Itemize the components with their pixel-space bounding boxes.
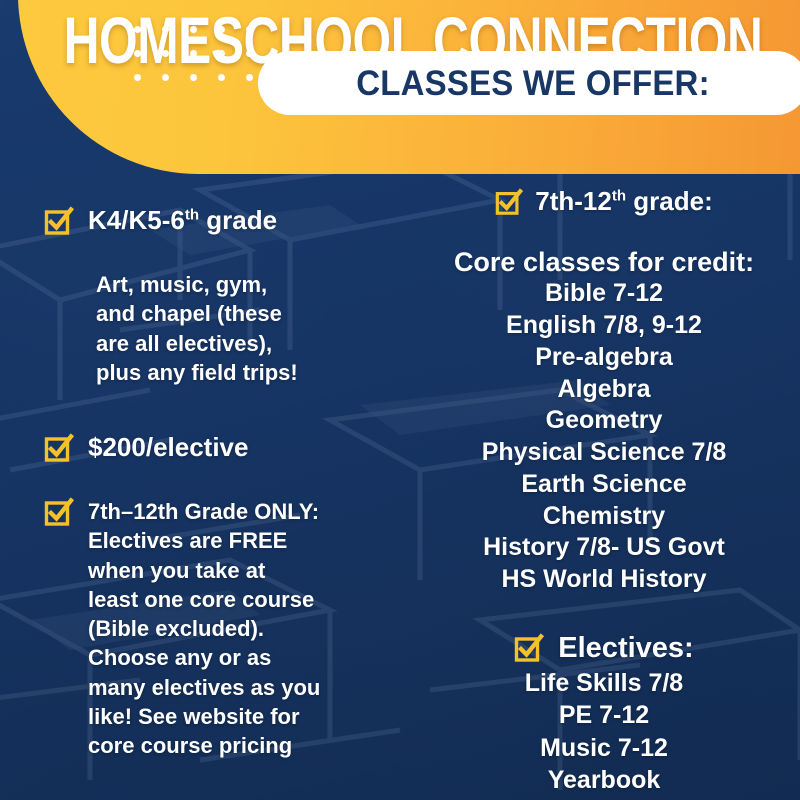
right-column: 7th-12th grade: Core classes for credit:… (408, 186, 800, 800)
list-item: Chemistry (408, 501, 800, 533)
k4-detail-text: Art, music, gym, and chapel (these are a… (96, 270, 394, 387)
left-item-electives-free: 7th–12th Grade ONLY: Electives are FREE … (44, 497, 394, 760)
list-item: Algebra (408, 374, 800, 406)
list-item: Bible 7-12 (408, 278, 800, 310)
electives-heading-row: Electives: (408, 632, 800, 665)
left-item-k4-k5-label: K4/K5-6th grade (88, 206, 277, 235)
left-item-electives-free-text: 7th–12th Grade ONLY: Electives are FREE … (88, 497, 320, 760)
list-item: Physical Science 7/8 (408, 437, 800, 469)
list-item: PE 7-12 (408, 699, 800, 732)
list-item: Pre-algebra (408, 342, 800, 374)
poster-canvas: HOMESCHOOL CONNECTION CLASSES WE OFFER: … (0, 0, 800, 800)
core-classes-heading: Core classes for credit: (408, 247, 800, 278)
checkbox-checked-icon (44, 433, 74, 463)
list-item: History 7/8- US Govt (408, 532, 800, 564)
left-column: K4/K5-6th grade Art, music, gym, and cha… (44, 206, 394, 760)
list-item: Music 7-12 (408, 732, 800, 765)
pill-label: CLASSES WE OFFER: (356, 62, 710, 103)
list-item: HS World History (408, 564, 800, 596)
left-item-k4-k5: K4/K5-6th grade (44, 206, 394, 236)
left-item-price: $200/elective (44, 433, 394, 463)
left-item-k4-k5-detail: Art, music, gym, and chapel (these are a… (96, 270, 394, 387)
checkbox-checked-icon (44, 206, 74, 236)
core-classes-list: Bible 7-12 English 7/8, 9-12 Pre-algebra… (408, 278, 800, 596)
list-item: Life Skills 7/8 (408, 667, 800, 700)
right-grade-heading-label: 7th-12th grade: (535, 186, 713, 217)
right-item-grade-heading: 7th-12th grade: (408, 186, 800, 217)
list-item: Geometry (408, 405, 800, 437)
list-item: English 7/8, 9-12 (408, 310, 800, 342)
left-item-price-label: $200/elective (88, 433, 248, 462)
electives-heading-label: Electives: (558, 632, 693, 665)
checkbox-checked-icon (44, 497, 74, 527)
classes-we-offer-pill: CLASSES WE OFFER: (258, 51, 800, 115)
list-item: Earth Science (408, 469, 800, 501)
list-item: Yearbook (408, 764, 800, 797)
checkbox-checked-icon (495, 188, 523, 216)
checkbox-checked-icon (514, 633, 544, 663)
decorative-dot-grid (134, 26, 274, 98)
header-banner: HOMESCHOOL CONNECTION CLASSES WE OFFER: (18, 0, 800, 174)
electives-list: Life Skills 7/8 PE 7-12 Music 7-12 Yearb… (408, 667, 800, 800)
